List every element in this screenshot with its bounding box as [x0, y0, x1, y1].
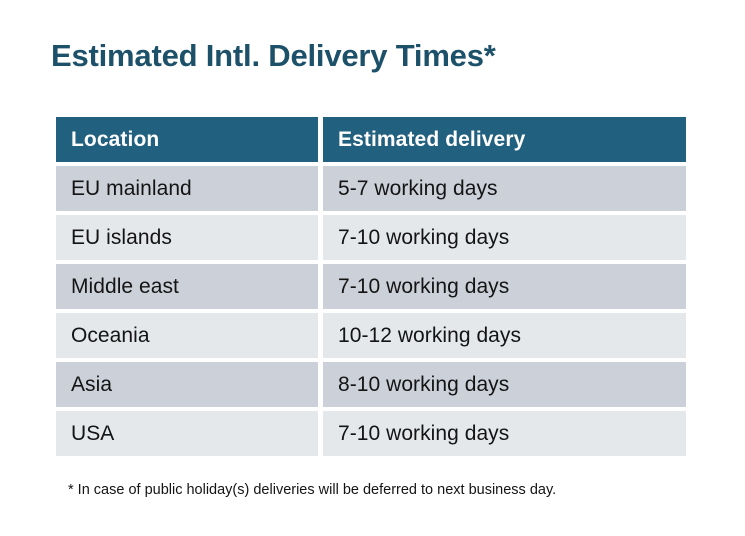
page-title: Estimated Intl. Delivery Times* [51, 38, 496, 74]
cell-delivery: 7-10 working days [323, 215, 686, 260]
column-header-delivery: Estimated delivery [323, 117, 686, 162]
table-header-row: Location Estimated delivery [56, 117, 686, 162]
footnote: * In case of public holiday(s) deliverie… [68, 482, 556, 498]
cell-location: Middle east [56, 264, 318, 309]
table-header: Location Estimated delivery [56, 117, 686, 162]
cell-delivery: 7-10 working days [323, 264, 686, 309]
delivery-times-page: Estimated Intl. Delivery Times* Location… [0, 0, 745, 536]
cell-location: Oceania [56, 313, 318, 358]
cell-delivery: 5-7 working days [323, 166, 686, 211]
cell-delivery: 10-12 working days [323, 313, 686, 358]
table-body: EU mainland 5-7 working days EU islands … [56, 166, 686, 456]
cell-delivery: 7-10 working days [323, 411, 686, 456]
table-row: Asia 8-10 working days [56, 362, 686, 407]
table-row: USA 7-10 working days [56, 411, 686, 456]
cell-location: USA [56, 411, 318, 456]
cell-delivery: 8-10 working days [323, 362, 686, 407]
cell-location: EU mainland [56, 166, 318, 211]
table-row: EU islands 7-10 working days [56, 215, 686, 260]
table-row: EU mainland 5-7 working days [56, 166, 686, 211]
delivery-times-table: Location Estimated delivery EU mainland … [51, 113, 691, 460]
column-header-location: Location [56, 117, 318, 162]
table-row: Middle east 7-10 working days [56, 264, 686, 309]
cell-location: EU islands [56, 215, 318, 260]
table-row: Oceania 10-12 working days [56, 313, 686, 358]
cell-location: Asia [56, 362, 318, 407]
